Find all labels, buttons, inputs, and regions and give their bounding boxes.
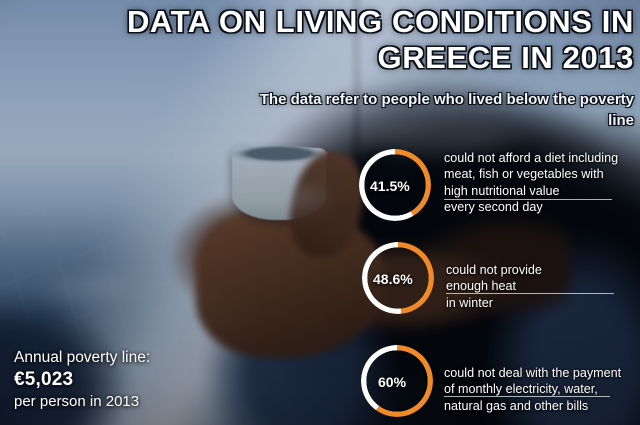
donut-value-diet: 41.5% (370, 178, 410, 194)
page-subtitle: The data refer to people who lived below… (250, 89, 634, 131)
donut-value-bills: 60% (378, 374, 406, 390)
poverty-line-per-person: per person in 2013 (14, 392, 150, 412)
overlay-layer: DATA ON LIVING CONDITIONS IN GREECE IN 2… (0, 0, 640, 425)
page-title: DATA ON LIVING CONDITIONS IN GREECE IN 2… (100, 4, 634, 76)
poverty-line-label: Annual poverty line: (14, 348, 150, 368)
poverty-line-amount: €5,023 (14, 368, 150, 392)
stat-divider-diet (444, 199, 612, 200)
infographic-canvas: DATA ON LIVING CONDITIONS IN GREECE IN 2… (0, 0, 640, 425)
stat-divider-bills (444, 396, 610, 397)
stat-description-heat: could not provide enough heat in winter (446, 262, 640, 311)
donut-value-heat: 48.6% (373, 271, 413, 287)
poverty-line-block: Annual poverty line: €5,023 per person i… (14, 348, 150, 412)
stat-divider-heat (446, 293, 614, 294)
stat-description-diet: could not afford a diet including meat, … (444, 150, 640, 216)
stat-description-bills: could not deal with the payment of month… (444, 365, 640, 414)
